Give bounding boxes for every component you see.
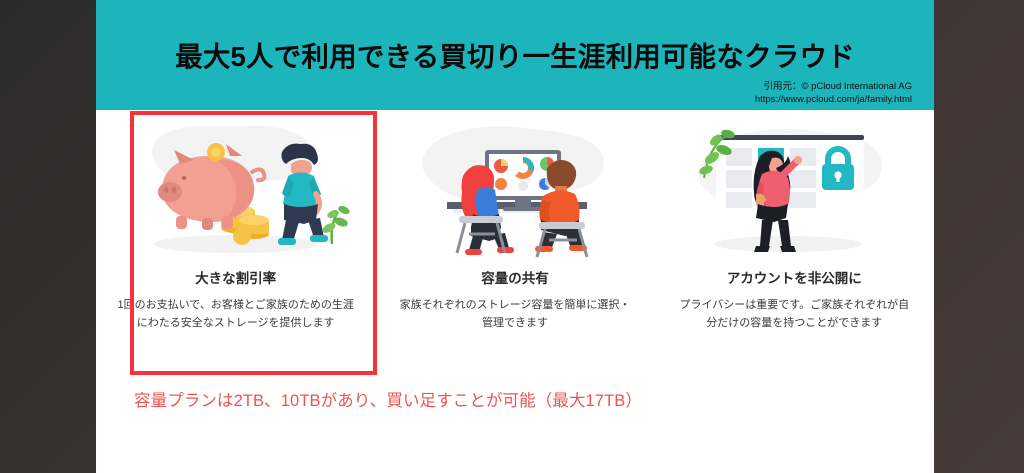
card-body: 1回のお支払いで、お客様とご家族のための生涯にわたる安全なストレージを提供します <box>110 297 361 332</box>
feature-card-discount[interactable]: 大きな割引率 1回のお支払いで、お客様とご家族のための生涯にわたる安全なストレー… <box>96 110 375 380</box>
piggy-bank-savings-illustration <box>118 116 354 261</box>
attribution-source: 引用元：© pCloud International AG <box>755 80 912 93</box>
attribution-block: 引用元：© pCloud International AG https://ww… <box>755 80 912 106</box>
card-body: プライバシーは重要です。ご家族それぞれが自分だけの容量を持つことができます <box>669 297 920 332</box>
card-title: 大きな割引率 <box>110 270 361 288</box>
slide-stage: 最大5人で利用できる買切り一生涯利用可能なクラウド 引用元：© pCloud I… <box>0 0 1024 473</box>
bottom-note: 容量プランは2TB、10TBがあり、買い足すことが可能（最大17TB） <box>134 387 642 411</box>
illustration-wrap <box>669 116 920 261</box>
slide-title: 最大5人で利用できる買切り一生涯利用可能なクラウド <box>96 34 934 74</box>
attribution-url[interactable]: https://www.pcloud.com/ja/family.html <box>755 93 912 106</box>
feature-card-sharing[interactable]: 容量の共有 家族それぞれのストレージ容量を簡単に選択・管理できます <box>375 110 654 380</box>
two-people-at-monitor-illustration <box>397 116 633 261</box>
card-title: 容量の共有 <box>389 270 640 288</box>
card-body: 家族それぞれのストレージ容量を簡単に選択・管理できます <box>389 297 640 332</box>
slide-header-band: 最大5人で利用できる買切り一生涯利用可能なクラウド 引用元：© pCloud I… <box>96 0 934 110</box>
presentation-slide: 最大5人で利用できる買切り一生涯利用可能なクラウド 引用元：© pCloud I… <box>96 0 934 473</box>
illustration-wrap <box>110 116 361 261</box>
card-title: アカウントを非公開に <box>669 270 920 288</box>
illustration-wrap <box>389 116 640 261</box>
feature-card-privacy[interactable]: アカウントを非公開に プライバシーは重要です。ご家族それぞれが自分だけの容量を持… <box>655 110 934 380</box>
feature-columns: 大きな割引率 1回のお支払いで、お客様とご家族のための生涯にわたる安全なストレー… <box>96 110 934 380</box>
woman-at-board-with-lock-illustration <box>676 116 912 261</box>
